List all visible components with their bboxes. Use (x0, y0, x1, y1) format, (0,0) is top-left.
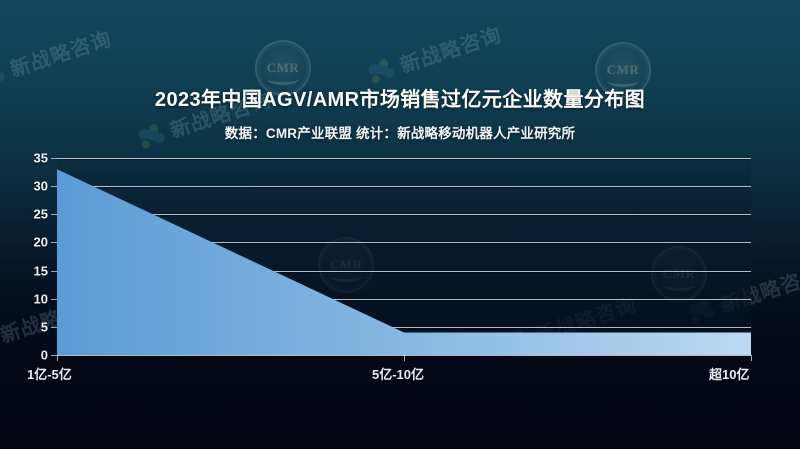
y-axis-label: 5 (8, 319, 48, 334)
x-axis-label: 5亿-10亿 (372, 364, 424, 383)
chart-header: 2023年中国AGV/AMR市场销售过亿元企业数量分布图 数据：CMR产业联盟 … (0, 88, 800, 142)
chart-subtitle: 数据：CMR产业联盟 统计：新战略移动机器人产业研究所 (0, 122, 800, 142)
y-axis-label: 35 (8, 151, 48, 166)
chart-screenshot: 新战略咨询 新战略咨询 新战略咨询 新战略咨询 新战略咨询 新战略咨询 新战略咨… (0, 0, 800, 449)
brand-watermark: 新战略咨询 (366, 18, 505, 88)
y-axis-label: 25 (8, 207, 48, 222)
y-axis-label: 0 (8, 348, 48, 363)
x-axis-tick (751, 355, 752, 361)
chart-title: 2023年中国AGV/AMR市场销售过亿元企业数量分布图 (0, 88, 800, 113)
x-axis-label: 1亿-5亿 (27, 364, 72, 383)
cmr-seal-label: CMR (607, 62, 640, 78)
brand-watermark-text: 新战略咨询 (6, 22, 115, 82)
brand-logo-icon (0, 60, 8, 89)
x-axis-label: 超10亿 (709, 364, 749, 383)
brand-watermark-text: 新战略咨询 (396, 18, 505, 78)
brand-logo-icon (367, 56, 399, 85)
cmr-seal-label: CMR (267, 60, 300, 76)
y-axis-label: 30 (8, 179, 48, 194)
brand-watermark: 新战略咨询 (0, 22, 115, 92)
area-series (57, 158, 751, 355)
area-fill (57, 169, 751, 355)
x-axis-tick (404, 355, 405, 361)
y-axis-label: 20 (8, 235, 48, 250)
x-axis-tick (57, 355, 58, 361)
y-axis-label: 10 (8, 291, 48, 306)
chart-plot: 05101520253035 1亿-5亿5亿-10亿超10亿 (0, 158, 800, 358)
y-axis-label: 15 (8, 263, 48, 278)
